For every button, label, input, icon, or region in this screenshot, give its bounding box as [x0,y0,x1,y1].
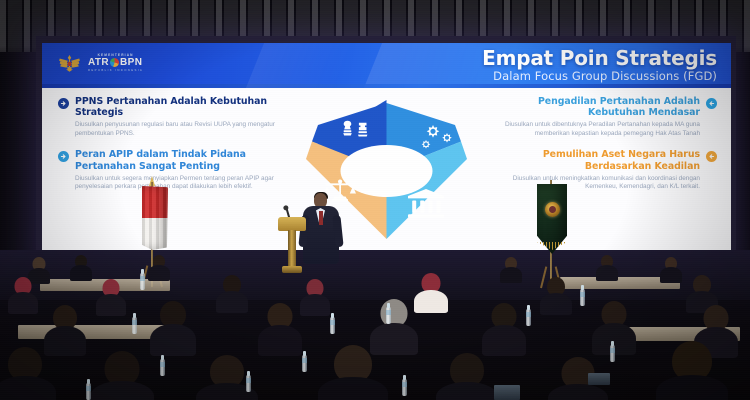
audience-person [0,347,56,400]
audience-person [596,255,618,279]
open-laptop [588,373,610,385]
logo-color-mark-icon [110,58,119,67]
logo-bpn-text: BPN [120,58,142,68]
chevron-left-circle-icon [706,98,717,109]
audience-person [482,303,526,353]
audience-person [300,279,330,313]
point-title: Peran APIP dalam Tindak Pidana Pertanaha… [75,149,276,172]
photo-scene: KEMENTERIAN ATR BPN REPUBLIK INDONESIA E… [0,0,750,400]
point-title: PPNS Pertanahan Adalah Kebutuhan Strateg… [75,96,276,119]
audience-person [436,353,498,400]
open-laptop [494,385,520,400]
water-bottle [386,307,391,324]
point-description: Diusulkan penyusunan regulasi baru atau … [58,121,276,138]
water-bottle [580,289,585,306]
water-bottle [610,345,615,362]
audience-person [258,303,302,353]
chevron-left-circle-icon [706,151,717,162]
logo-atr-text: ATR [88,58,109,68]
audience-person [96,279,126,313]
audience-person [500,257,522,281]
point-item-3: Pengadilan Pertanahan Adalah Kebutuhan M… [499,96,717,138]
slide-subtitle: Dalam Focus Group Discussions (FGD) [482,70,717,83]
water-bottle [330,317,335,334]
audience-person [656,341,728,400]
water-bottle [302,355,307,372]
speaker-tie [319,211,323,225]
audience-person [8,277,38,311]
water-bottle [246,375,251,392]
slide-header-band: KEMENTERIAN ATR BPN REPUBLIK INDONESIA E… [42,43,731,88]
audience-person [414,273,448,311]
audience-person [44,305,86,353]
audience-person [90,351,154,400]
point-description: Diusulkan untuk dibentuknya Peradilan Pe… [499,121,717,138]
audience-table [18,325,168,339]
audience-person [70,255,92,279]
garuda-emblem-icon [58,53,81,72]
point-title: Pengadilan Pertanahan Adalah Kebutuhan M… [499,96,700,119]
water-bottle [402,379,407,396]
audience-person [660,257,682,281]
slide-title: Empat Poin Strategis [482,48,717,69]
institution-emblem-icon [545,202,560,217]
logo-republic-label: REPUBLIK INDONESIA [88,69,143,72]
point-title: Pemulihan Aset Negara Harus Berdasarkan … [499,149,700,172]
water-bottle [132,317,137,334]
flag-fringe [537,242,567,250]
water-bottle [160,359,165,376]
diamond-center-circle [341,145,433,197]
audience-person [318,345,388,400]
ministry-logo: KEMENTERIAN ATR BPN REPUBLIK INDONESIA [58,53,143,72]
audience-person [540,277,572,313]
water-bottle [140,273,145,290]
water-bottle [526,309,531,326]
audience-person [216,275,248,311]
point-item-1: PPNS Pertanahan Adalah Kebutuhan Strateg… [58,96,276,138]
audience-person [150,301,196,353]
podium-top [278,217,306,231]
audience-person [148,255,170,279]
flag-folds [142,186,168,250]
chevron-right-circle-icon [58,98,69,109]
seated-audience [0,255,750,400]
water-bottle [86,383,91,400]
chevron-right-circle-icon [58,151,69,162]
slide-title-block: Empat Poin Strategis Dalam Focus Group D… [482,48,717,83]
